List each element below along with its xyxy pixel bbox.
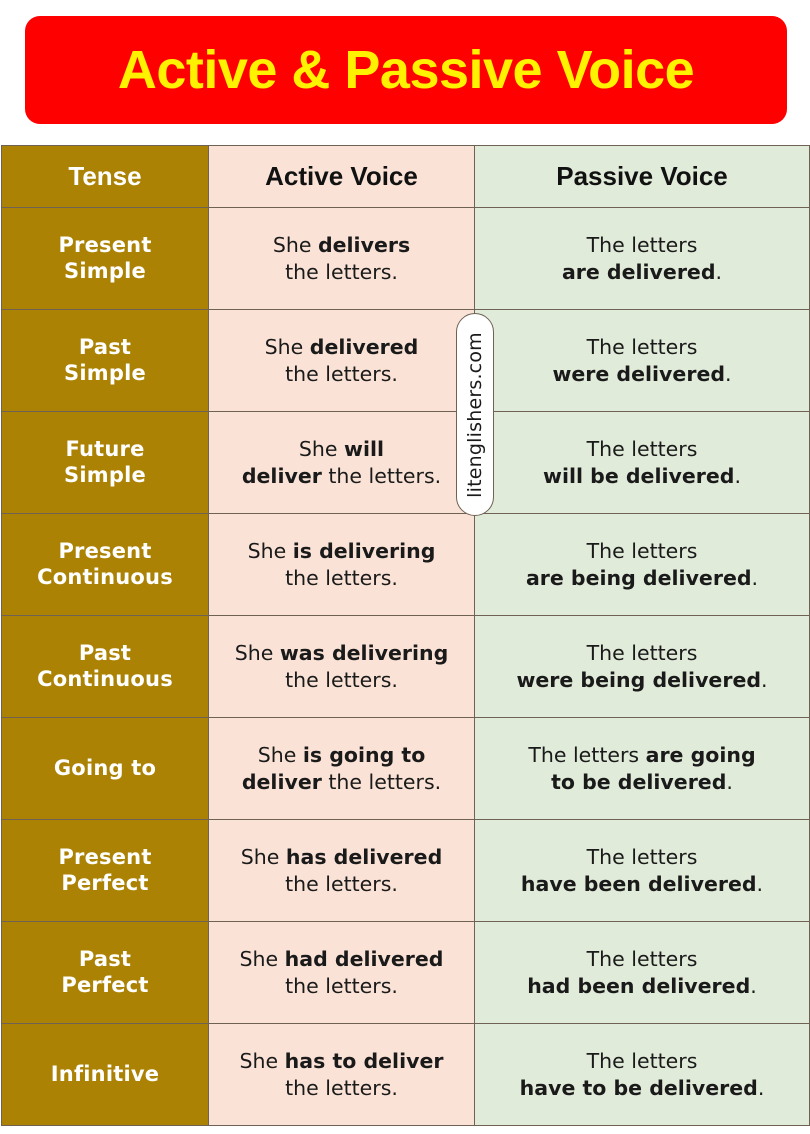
cell-tense: PastPerfect <box>2 922 209 1024</box>
cell-active-voice: She deliveredthe letters. <box>209 310 475 412</box>
table-row: InfinitiveShe has to deliverthe letters.… <box>2 1024 810 1126</box>
cell-passive-voice: The lettersare delivered. <box>475 208 810 310</box>
active-sentence: She was deliveringthe letters. <box>215 640 468 693</box>
cell-passive-voice: The lettersare being delivered. <box>475 514 810 616</box>
column-header-active: Active Voice <box>209 146 475 208</box>
page-title: Active & Passive Voice <box>118 43 694 97</box>
tense-label: PresentSimple <box>8 233 202 284</box>
column-header-passive: Passive Voice <box>475 146 810 208</box>
tense-label: PastSimple <box>8 335 202 386</box>
passive-sentence: The lettershave been delivered. <box>481 844 803 897</box>
tense-label: PastPerfect <box>8 947 202 998</box>
table-row: PastContinuousShe was deliveringthe lett… <box>2 616 810 718</box>
cell-tense: PastContinuous <box>2 616 209 718</box>
tense-label: Infinitive <box>8 1062 202 1088</box>
cell-active-voice: She has to deliverthe letters. <box>209 1024 475 1126</box>
cell-passive-voice: The letters are goingto be delivered. <box>475 718 810 820</box>
cell-tense: PresentSimple <box>2 208 209 310</box>
active-sentence: She is deliveringthe letters. <box>215 538 468 591</box>
passive-sentence: The lettersare delivered. <box>481 232 803 285</box>
active-sentence: She has to deliverthe letters. <box>215 1048 468 1101</box>
table-row: PastSimpleShe deliveredthe letters.The l… <box>2 310 810 412</box>
active-passive-voice-table: Tense Active Voice Passive Voice Present… <box>1 145 810 1126</box>
passive-sentence: The lettershave to be delivered. <box>481 1048 803 1101</box>
active-sentence: She has deliveredthe letters. <box>215 844 468 897</box>
table-row: PastPerfectShe had deliveredthe letters.… <box>2 922 810 1024</box>
cell-active-voice: She willdeliver the letters. <box>209 412 475 514</box>
tense-label: FutureSimple <box>8 437 202 488</box>
cell-tense: PastSimple <box>2 310 209 412</box>
cell-passive-voice: The lettershad been delivered. <box>475 922 810 1024</box>
cell-active-voice: She is deliveringthe letters. <box>209 514 475 616</box>
tense-label: Going to <box>8 756 202 782</box>
active-sentence: She deliveredthe letters. <box>215 334 468 387</box>
table-header: Tense Active Voice Passive Voice <box>2 146 810 208</box>
active-sentence: She deliversthe letters. <box>215 232 468 285</box>
passive-sentence: The letters are goingto be delivered. <box>481 742 803 795</box>
cell-passive-voice: The letterswill be delivered. <box>475 412 810 514</box>
cell-tense: Infinitive <box>2 1024 209 1126</box>
tense-label: PresentPerfect <box>8 845 202 896</box>
tense-label: PresentContinuous <box>8 539 202 590</box>
passive-sentence: The lettershad been delivered. <box>481 946 803 999</box>
cell-passive-voice: The lettershave been delivered. <box>475 820 810 922</box>
cell-tense: Going to <box>2 718 209 820</box>
title-banner: Active & Passive Voice <box>25 16 787 124</box>
cell-passive-voice: The lettershave to be delivered. <box>475 1024 810 1126</box>
active-sentence: She had deliveredthe letters. <box>215 946 468 999</box>
cell-tense: FutureSimple <box>2 412 209 514</box>
passive-sentence: The letterswere delivered. <box>481 334 803 387</box>
column-header-tense: Tense <box>2 146 209 208</box>
table-row: FutureSimpleShe willdeliver the letters.… <box>2 412 810 514</box>
table-row: PresentSimpleShe deliversthe letters.The… <box>2 208 810 310</box>
table-body: PresentSimpleShe deliversthe letters.The… <box>2 208 810 1126</box>
watermark-badge: litenglishers.com <box>456 313 494 516</box>
passive-sentence: The lettersare being delivered. <box>481 538 803 591</box>
watermark-label: litenglishers.com <box>464 332 486 498</box>
cell-active-voice: She deliversthe letters. <box>209 208 475 310</box>
tense-label: PastContinuous <box>8 641 202 692</box>
cell-active-voice: She was deliveringthe letters. <box>209 616 475 718</box>
cell-tense: PresentContinuous <box>2 514 209 616</box>
cell-active-voice: She had deliveredthe letters. <box>209 922 475 1024</box>
cell-active-voice: She is going todeliver the letters. <box>209 718 475 820</box>
table-header-row: Tense Active Voice Passive Voice <box>2 146 810 208</box>
cell-passive-voice: The letterswere being delivered. <box>475 616 810 718</box>
active-sentence: She is going todeliver the letters. <box>215 742 468 795</box>
active-sentence: She willdeliver the letters. <box>215 436 468 489</box>
cell-tense: PresentPerfect <box>2 820 209 922</box>
cell-active-voice: She has deliveredthe letters. <box>209 820 475 922</box>
table-row: Going toShe is going todeliver the lette… <box>2 718 810 820</box>
passive-sentence: The letterswere being delivered. <box>481 640 803 693</box>
table-row: PresentContinuousShe is deliveringthe le… <box>2 514 810 616</box>
cell-passive-voice: The letterswere delivered. <box>475 310 810 412</box>
passive-sentence: The letterswill be delivered. <box>481 436 803 489</box>
table-row: PresentPerfectShe has deliveredthe lette… <box>2 820 810 922</box>
